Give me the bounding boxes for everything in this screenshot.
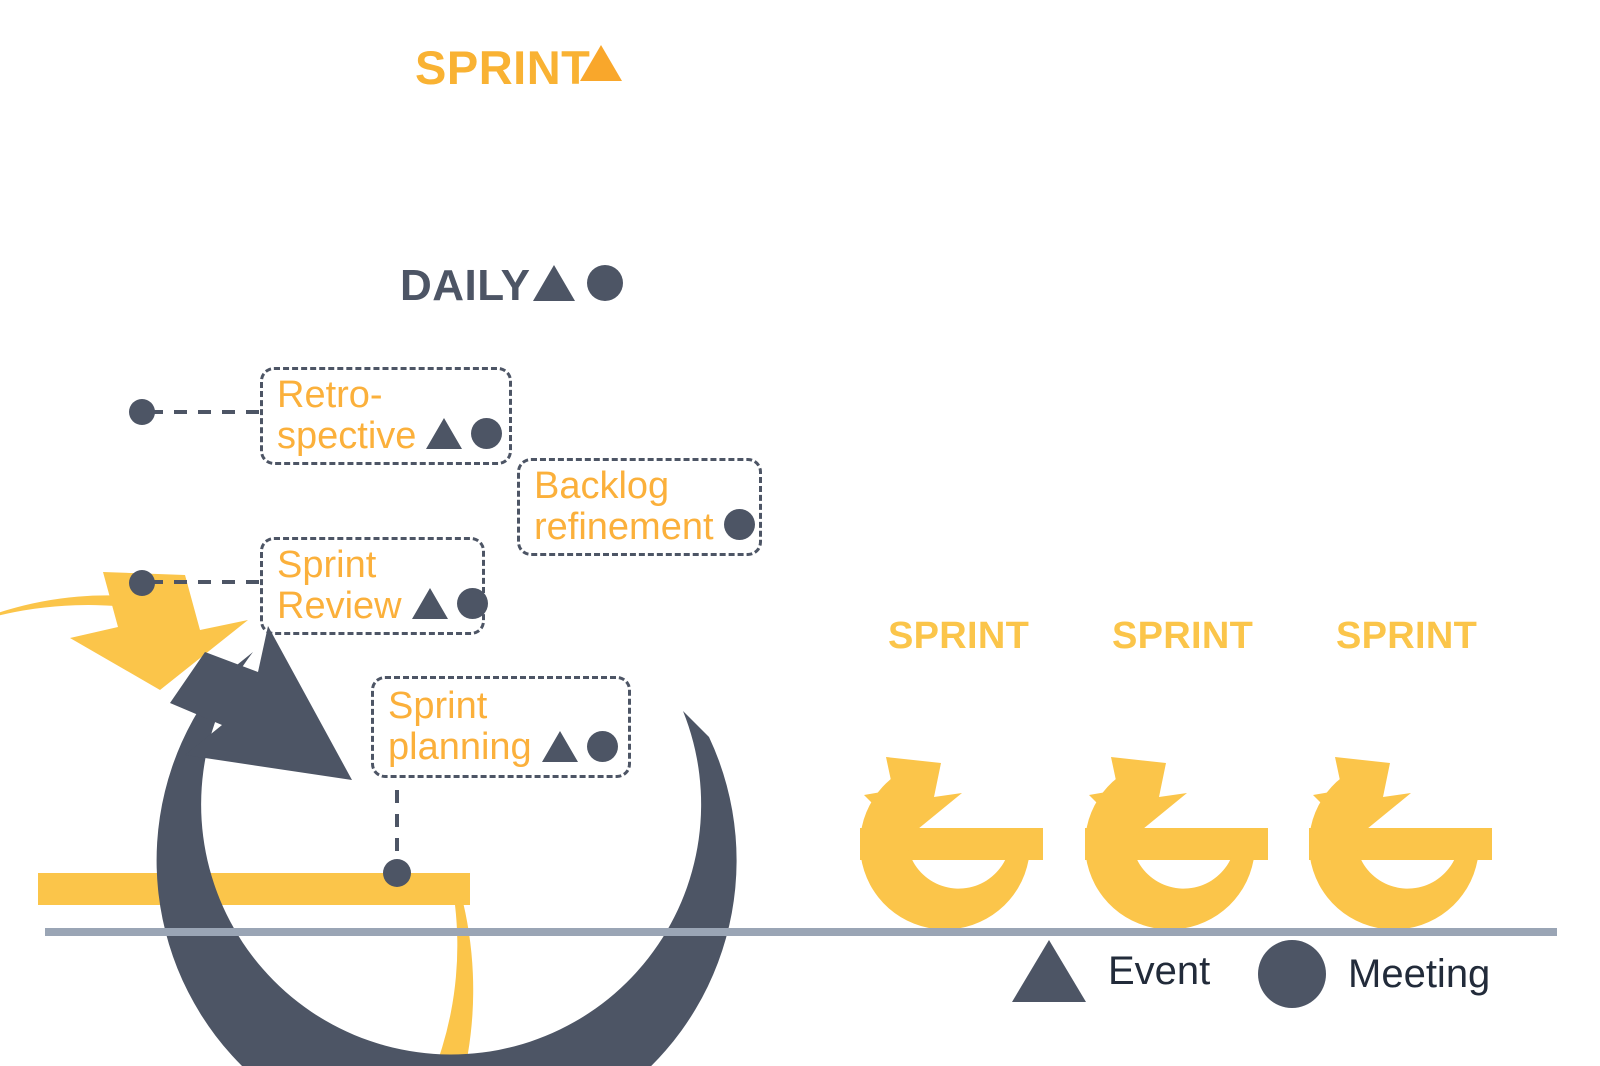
- event-triangle-icon: [580, 45, 622, 81]
- event-triangle-icon: [426, 418, 462, 449]
- event-triangle-icon: [1012, 940, 1086, 1002]
- legend-divider: [45, 928, 1557, 936]
- scrum-sprint-diagram: SPRINT DAILY Retro- spective Backlog ref…: [0, 0, 1600, 1066]
- mini-sprint-label-3: SPRINT: [1336, 617, 1477, 655]
- meeting-circle-icon: [587, 265, 623, 301]
- event-triangle-icon: [542, 731, 578, 762]
- mini-sprint-loop-2: [1085, 757, 1268, 930]
- event-triangle-icon: [412, 588, 448, 619]
- card-sprint-review-marks: [412, 588, 488, 632]
- card-sprint-planning-marks: [542, 731, 618, 775]
- mini-sprint-label-1: SPRINT: [888, 617, 1029, 655]
- meeting-circle-icon: [1258, 940, 1326, 1008]
- diagram-artwork: [0, 0, 1600, 1066]
- meeting-circle-icon: [724, 509, 755, 540]
- legend-item-event: Event: [1012, 940, 1210, 1002]
- main-sprint-label: SPRINT: [415, 44, 590, 91]
- meeting-circle-icon: [471, 418, 502, 449]
- card-retrospective-marks: [426, 418, 502, 462]
- main-sprint-marks: [580, 45, 622, 81]
- event-triangle-icon: [533, 265, 575, 301]
- mini-sprint-loop-1: [860, 757, 1043, 930]
- card-sprint-planning[interactable]: Sprint planning: [371, 676, 631, 778]
- card-backlog-refinement[interactable]: Backlog refinement: [517, 458, 762, 556]
- card-sprint-review[interactable]: Sprint Review: [260, 537, 485, 635]
- daily-label: DAILY: [400, 264, 530, 308]
- mini-sprint-loop-3: [1309, 757, 1492, 930]
- daily-marks: [533, 265, 623, 301]
- card-retrospective[interactable]: Retro- spective: [260, 367, 512, 465]
- dot-sprint-planning: [383, 859, 411, 887]
- card-sprint-planning-text: Sprint planning: [388, 686, 532, 768]
- dot-sprint-review: [129, 570, 155, 596]
- card-backlog-refinement-text: Backlog refinement: [534, 466, 714, 548]
- meeting-circle-icon: [587, 731, 618, 762]
- card-sprint-review-text: Sprint Review: [277, 545, 402, 627]
- card-retrospective-text: Retro- spective: [277, 375, 416, 457]
- legend-label-meeting: Meeting: [1348, 952, 1490, 997]
- mini-sprint-label-2: SPRINT: [1112, 617, 1253, 655]
- legend-item-meeting: Meeting: [1258, 940, 1490, 1008]
- dot-retrospective: [129, 399, 155, 425]
- meeting-circle-icon: [457, 588, 488, 619]
- card-backlog-refinement-marks: [724, 509, 755, 553]
- legend-label-event: Event: [1108, 949, 1210, 994]
